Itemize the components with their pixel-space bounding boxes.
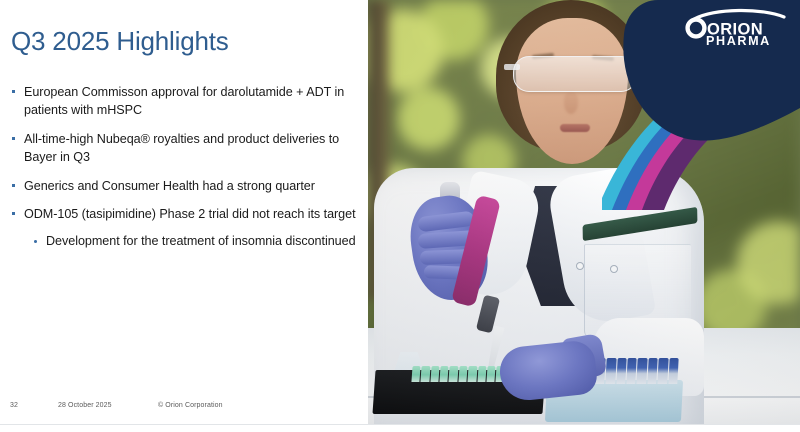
right-nitrile-glove <box>497 339 598 403</box>
slide-footer: 32 28 October 2025 © Orion Corporation <box>0 402 368 416</box>
bullet-item: European Commisson approval for daroluta… <box>8 84 360 120</box>
bullet-marker-icon <box>12 137 15 140</box>
bottom-divider <box>0 424 800 425</box>
tube <box>458 366 467 382</box>
bullet-text: All-time-high Nubeqa® royalties and prod… <box>24 132 339 164</box>
bullet-text: European Commisson approval for daroluta… <box>24 85 344 117</box>
highlights-bullet-list: European Commisson approval for daroluta… <box>8 84 360 260</box>
footer-date: 28 October 2025 <box>58 402 112 409</box>
bullet-marker-icon <box>12 184 15 187</box>
slide-canvas: ORION PHARMA Q3 2025 Highlights European… <box>0 0 800 432</box>
lab-coat-button <box>576 262 584 270</box>
bullet-item: ODM-105 (tasipimidine) Phase 2 trial did… <box>8 206 360 224</box>
bullet-text: ODM-105 (tasipimidine) Phase 2 trial did… <box>24 207 356 221</box>
bullet-item: All-time-high Nubeqa® royalties and prod… <box>8 131 360 167</box>
logo-o-ring <box>688 20 705 37</box>
bullet-text: Generics and Consumer Health had a stron… <box>24 179 315 193</box>
footer-copyright: © Orion Corporation <box>158 402 223 409</box>
tube <box>477 366 486 382</box>
sub-bullet-marker-icon <box>34 240 37 243</box>
tube <box>668 358 679 384</box>
orion-pharma-logo: ORION PHARMA <box>680 6 792 46</box>
page-number: 32 <box>10 402 18 409</box>
sub-bullet-item: Development for the treatment of insomni… <box>8 233 360 251</box>
safety-goggles <box>513 56 637 92</box>
logo-swoosh <box>694 10 784 19</box>
tube <box>616 358 627 384</box>
bottom-white-strip <box>0 424 800 432</box>
lab-coat-button <box>610 265 618 273</box>
tube <box>647 358 658 384</box>
bullet-marker-icon <box>12 212 15 215</box>
tube <box>430 366 439 382</box>
tube <box>637 358 648 384</box>
tube <box>449 366 458 382</box>
text-column: Q3 2025 Highlights European Commisson ap… <box>0 0 368 432</box>
page-title: Q3 2025 Highlights <box>11 26 229 57</box>
logo-wordmark-secondary: PHARMA <box>706 34 771 46</box>
lab-scientist-photo <box>368 0 800 424</box>
tube <box>605 358 616 384</box>
tube <box>626 358 637 384</box>
tube <box>421 366 430 382</box>
tube <box>468 366 477 382</box>
tube <box>440 366 449 382</box>
bullet-item: Generics and Consumer Health had a stron… <box>8 178 360 196</box>
sub-bullet-text: Development for the treatment of insomni… <box>46 234 356 248</box>
nose <box>564 92 578 114</box>
tube <box>658 358 669 384</box>
tube <box>411 366 420 382</box>
mouth <box>560 124 590 132</box>
bullet-marker-icon <box>12 90 15 93</box>
tube <box>486 366 495 382</box>
